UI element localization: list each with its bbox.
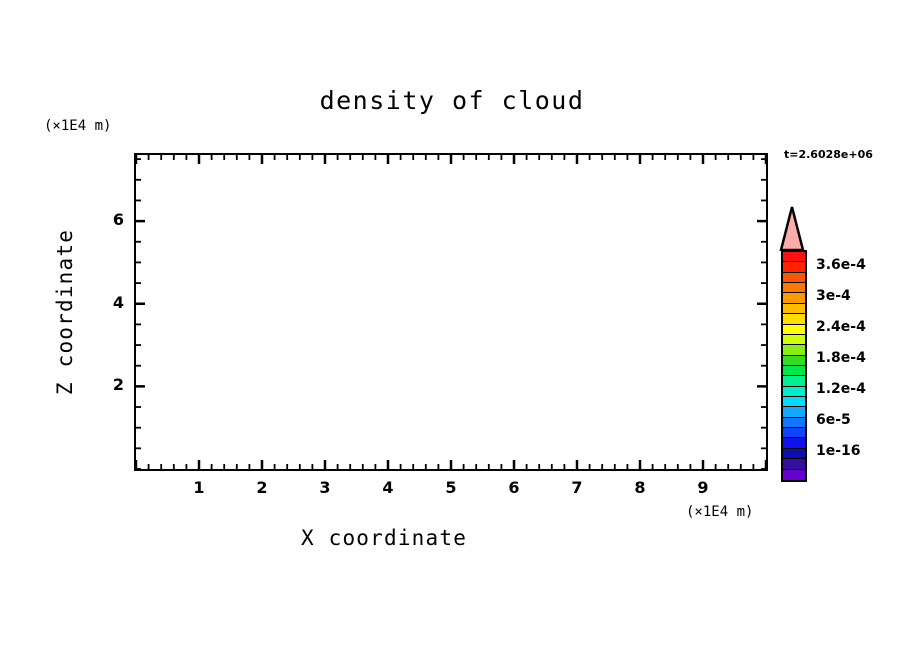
- colorbar-tick-label: 1e-16: [816, 443, 861, 459]
- y-tick-label: 4: [94, 293, 124, 312]
- colorbar-band: [783, 459, 805, 469]
- y-tick-label: 6: [94, 210, 124, 229]
- colorbar-band: [783, 449, 805, 459]
- colorbar-tick-label: 3.6e-4: [816, 257, 866, 273]
- x-tick-label: 2: [247, 478, 277, 497]
- y-axis-unit-label: (×1E4 m): [44, 118, 111, 134]
- y-axis-title: Z coordinate: [53, 222, 77, 402]
- x-axis-title: X coordinate: [0, 526, 768, 550]
- colorbar-band: [783, 418, 805, 428]
- colorbar-over-range-arrow: [779, 205, 805, 251]
- x-axis-unit-label: (×1E4 m): [686, 504, 753, 520]
- y-tick-label: 2: [94, 375, 124, 394]
- colorbar-tick-label: 3e-4: [816, 288, 851, 304]
- page-title: density of cloud: [0, 86, 904, 115]
- colorbar-band: [783, 366, 805, 376]
- x-tick-label: 3: [310, 478, 340, 497]
- colorbar-band: [783, 325, 805, 335]
- x-tick-label: 6: [499, 478, 529, 497]
- colorbar-band: [783, 438, 805, 448]
- x-tick-label: 8: [625, 478, 655, 497]
- colorbar-band: [783, 387, 805, 397]
- colorbar-band: [783, 314, 805, 324]
- colorbar-tick-label: 1.2e-4: [816, 381, 866, 397]
- colorbar-tick-label: 2.4e-4: [816, 319, 866, 335]
- colorbar-band: [783, 397, 805, 407]
- colorbar-band: [783, 293, 805, 303]
- colorbar-tick-label: 1.8e-4: [816, 350, 866, 366]
- x-tick-label: 4: [373, 478, 403, 497]
- x-tick-label: 9: [688, 478, 718, 497]
- x-tick-label: 1: [184, 478, 214, 497]
- colorbar-band: [783, 407, 805, 417]
- colorbar-tick-label: 6e-5: [816, 412, 851, 428]
- colorbar: [781, 250, 807, 482]
- colorbar-band: [783, 470, 805, 480]
- colorbar-band: [783, 345, 805, 355]
- colorbar-band: [783, 252, 805, 262]
- timestamp-label: t=2.6028e+06: [784, 148, 873, 161]
- x-tick-label: 7: [562, 478, 592, 497]
- colorbar-band: [783, 376, 805, 386]
- colorbar-band: [783, 335, 805, 345]
- colorbar-band: [783, 283, 805, 293]
- axis-tick-marks: [134, 153, 774, 479]
- colorbar-band: [783, 273, 805, 283]
- x-tick-label: 5: [436, 478, 466, 497]
- colorbar-band: [783, 428, 805, 438]
- colorbar-band: [783, 262, 805, 272]
- colorbar-band: [783, 356, 805, 366]
- colorbar-band: [783, 304, 805, 314]
